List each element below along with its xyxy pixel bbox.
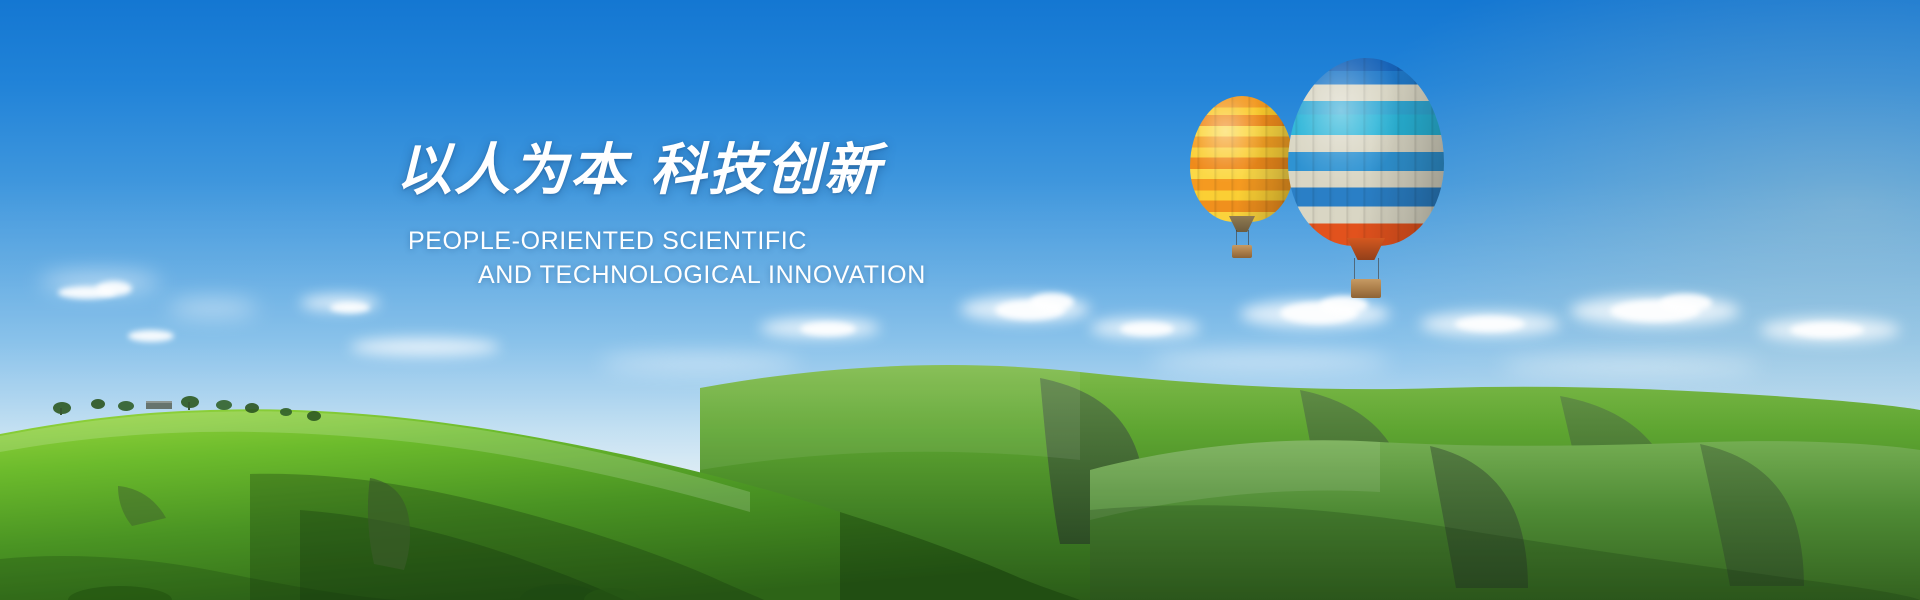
balloon-blue — [1288, 58, 1444, 288]
headline-part-2: 科技创新 — [650, 138, 882, 201]
balloon-blue-shading — [1288, 58, 1444, 246]
landscape-right-ridge — [0, 350, 1920, 600]
subtitle-line-2: AND TECHNOLOGICAL INNOVATION — [396, 259, 1096, 293]
subtitle-line-1: PEOPLE-ORIENTED SCIENTIFIC — [396, 225, 1096, 259]
headline-part-1: 以人为本 — [396, 138, 628, 201]
banner-subtitle: PEOPLE-ORIENTED SCIENTIFIC AND TECHNOLOG… — [396, 199, 1096, 292]
balloon-orange-skirt — [1229, 216, 1255, 232]
balloon-orange-basket — [1232, 245, 1252, 258]
hero-banner: 以人为本科技创新 PEOPLE-ORIENTED SCIENTIFIC AND … — [0, 0, 1920, 600]
banner-headline: 以人为本科技创新 — [396, 140, 1096, 199]
balloon-orange — [1190, 96, 1294, 260]
balloon-orange-shading — [1190, 96, 1294, 222]
banner-copy: 以人为本科技创新 PEOPLE-ORIENTED SCIENTIFIC AND … — [396, 140, 1096, 292]
balloon-blue-skirt — [1347, 238, 1385, 260]
